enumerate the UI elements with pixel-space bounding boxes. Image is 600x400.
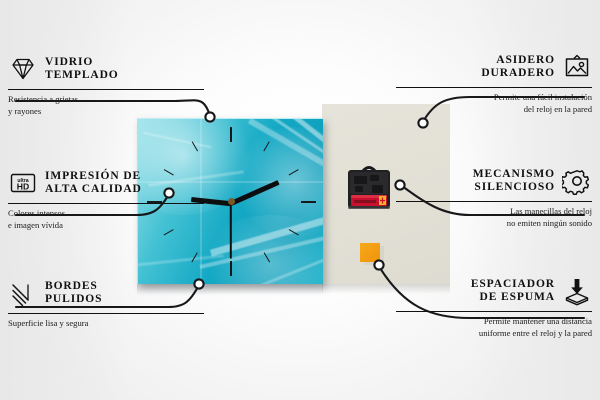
feature-header: ESPACIADOR DE ESPUMA [396,274,592,308]
feature-divider [396,87,592,88]
feature-header: BORDES PULIDOS [8,276,204,310]
feature-title: VIDRIO TEMPLADO [45,56,119,83]
feature-impresion-alta-calidad: ultra HD IMPRESIÓN DE ALTA CALIDAD Color… [8,166,204,231]
feature-divider [396,311,592,312]
feature-divider [396,201,592,202]
diamond-icon [8,54,38,84]
feature-description: Permite una fácil instalación del reloj … [396,92,592,114]
feature-description: Colores intensos e imagen vívida [8,208,204,230]
feature-header: MECANISMO SILENCIOSO [396,164,592,198]
feature-title: ASIDERO DURADERO [481,54,555,81]
feature-bordes-pulidos: BORDES PULIDOS Superficie lisa y segura [8,276,204,330]
feature-title: ESPACIADOR DE ESPUMA [471,278,555,305]
ultra-hd-bottom-label: HD [17,182,29,192]
feature-espaciador-de-espuma: ESPACIADOR DE ESPUMA Permite mantener un… [396,274,592,339]
infographic-canvas: VIDRIO TEMPLADO Resistencia a grietas y … [0,0,600,400]
feature-title: MECANISMO SILENCIOSO [473,168,555,195]
feature-title: IMPRESIÓN DE ALTA CALIDAD [45,170,142,197]
feature-header: VIDRIO TEMPLADO [8,52,204,86]
feature-vidrio-templado: VIDRIO TEMPLADO Resistencia a grietas y … [8,52,204,117]
foam-spacer-icon [562,276,592,306]
feature-asidero-duradero: ASIDERO DURADERO Permite una fácil insta… [396,50,592,115]
feature-description: Superficie lisa y segura [8,318,204,329]
feature-header: ASIDERO DURADERO [396,50,592,84]
gear-icon [562,166,592,196]
feature-description: Las manecillas del reloj no emiten ningú… [396,206,592,228]
feature-header: ultra HD IMPRESIÓN DE ALTA CALIDAD [8,166,204,200]
polished-edges-icon [8,278,38,308]
feature-mecanismo-silencioso: MECANISMO SILENCIOSO Las manecillas del … [396,164,592,229]
feature-description: Permite mantener una distancia uniforme … [396,316,592,338]
feature-divider [8,313,204,314]
feature-divider [8,89,204,90]
feature-description: Resistencia a grietas y rayones [8,94,204,116]
picture-hanger-icon [562,52,592,82]
ultra-hd-icon: ultra HD [8,168,38,198]
feature-title: BORDES PULIDOS [45,280,102,307]
feature-divider [8,203,204,204]
